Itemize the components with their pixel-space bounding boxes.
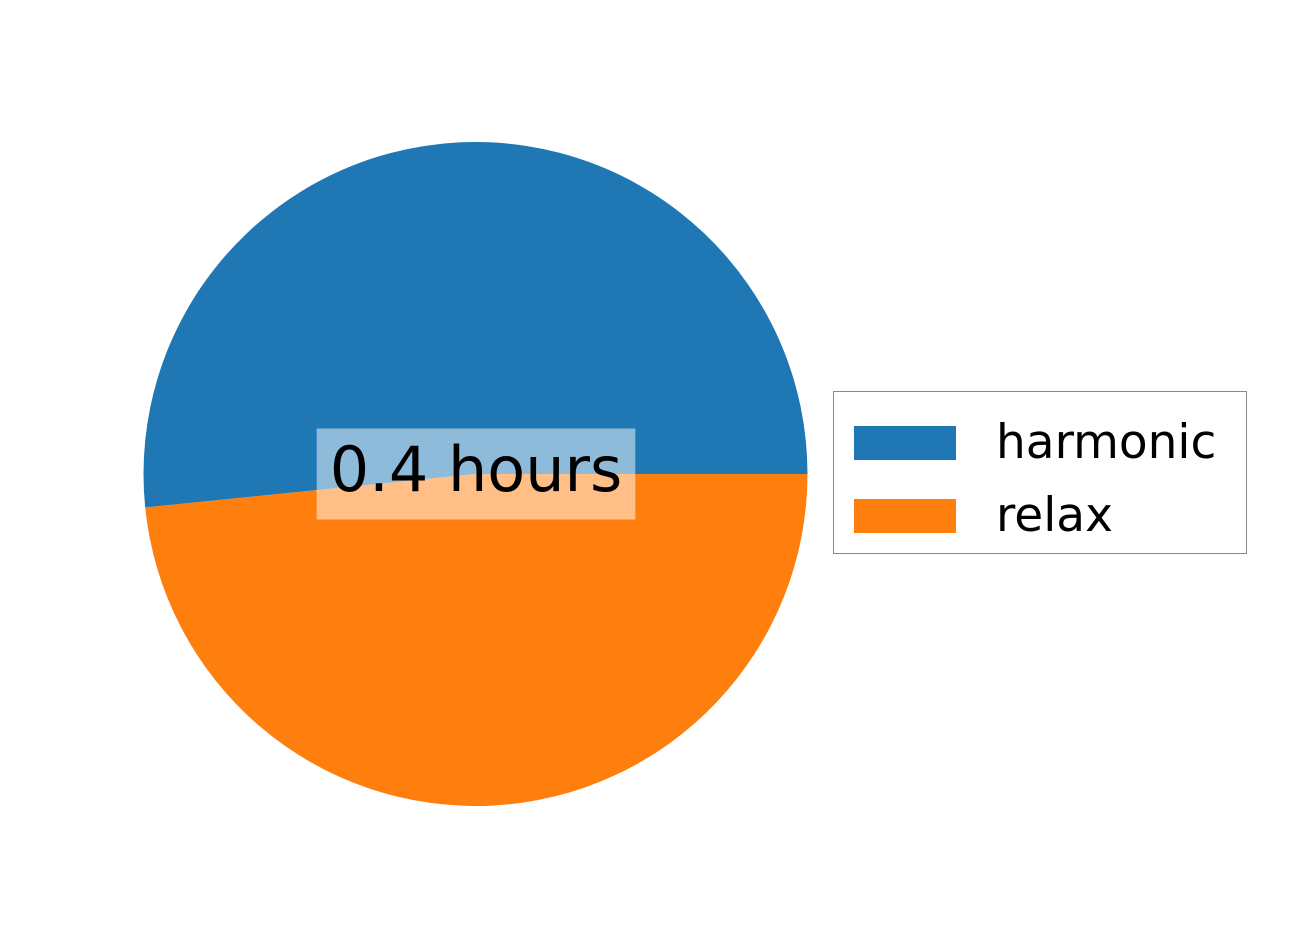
legend: harmonic relax <box>833 391 1247 554</box>
center-label-text: 0.4 hours <box>330 433 623 506</box>
legend-entries: harmonic relax <box>834 392 1246 553</box>
legend-item-relax[interactable]: relax <box>854 492 1113 539</box>
legend-label-relax: relax <box>996 492 1113 539</box>
legend-label-harmonic: harmonic <box>996 419 1216 466</box>
legend-swatch-relax <box>854 499 956 533</box>
pie-slice-relax[interactable] <box>145 474 807 806</box>
legend-swatch-harmonic <box>854 426 956 460</box>
figure-canvas: 0.4 hours harmonic relax <box>0 0 1307 951</box>
legend-item-harmonic[interactable]: harmonic <box>854 419 1216 466</box>
pie-center-label: 0.4 hours <box>317 429 636 520</box>
